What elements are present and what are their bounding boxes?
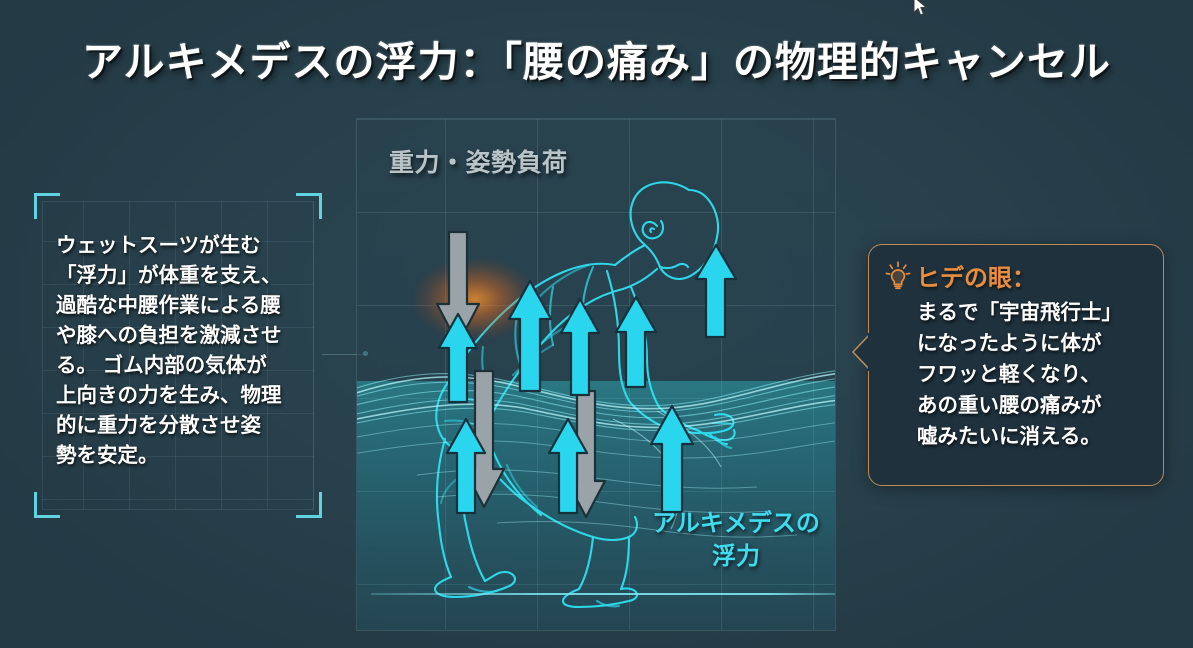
insight-callout: ヒデの眼： まるで「宇宙飛行士」 になったように体が フワッと軽くなり、 あの重… xyxy=(868,244,1164,486)
callout-title: ヒデの眼： xyxy=(916,258,1036,293)
up-arrow-buoyancy-6 xyxy=(445,419,487,515)
up-arrow-buoyancy-4 xyxy=(614,297,658,389)
callout-body-text: まるで「宇宙飛行士」 になったように体が フワッと軽くなり、 あの重い腰の痛みが… xyxy=(917,297,1161,452)
callout-header: ヒデの眼： xyxy=(885,258,1036,293)
lightbulb-icon xyxy=(885,261,911,291)
up-arrow-buoyancy-7 xyxy=(547,419,589,515)
page-title: アルキメデスの浮力：「腰の痛み」の物理的キャンセル xyxy=(0,28,1193,88)
up-arrow-buoyancy-5 xyxy=(694,245,738,339)
up-arrow-buoyancy-2 xyxy=(507,281,553,393)
up-arrow-buoyancy-1 xyxy=(437,314,479,404)
left-info-panel: ウェットスーツが生む 「浮力」が体重を支え、 過酷な中腰作業による腰 や膝への負… xyxy=(34,193,322,518)
corner-bracket-top-right xyxy=(296,193,322,219)
corner-bracket-bottom-left xyxy=(34,492,60,518)
up-arrow-buoyancy-8 xyxy=(649,406,695,514)
up-arrow-buoyancy-3 xyxy=(559,299,601,397)
callout-pointer-notch xyxy=(852,333,870,371)
buoyancy-label: アルキメデスの 浮力 xyxy=(641,507,831,573)
gravity-load-label: 重力・姿勢負荷 xyxy=(389,143,568,179)
corner-bracket-top-left xyxy=(34,193,60,219)
mouse-pointer-icon xyxy=(913,0,927,18)
left-panel-body-text: ウェットスーツが生む 「浮力」が体重を支え、 過酷な中腰作業による腰 や膝への負… xyxy=(56,231,306,471)
center-diagram-panel: 重力・姿勢負荷 アルキメデスの 浮力 xyxy=(356,118,836,631)
ground-line xyxy=(371,593,836,595)
corner-bracket-bottom-right xyxy=(296,492,322,518)
slide-canvas: アルキメデスの浮力：「腰の痛み」の物理的キャンセル ウェットスーツが生む 「浮力… xyxy=(0,0,1193,648)
